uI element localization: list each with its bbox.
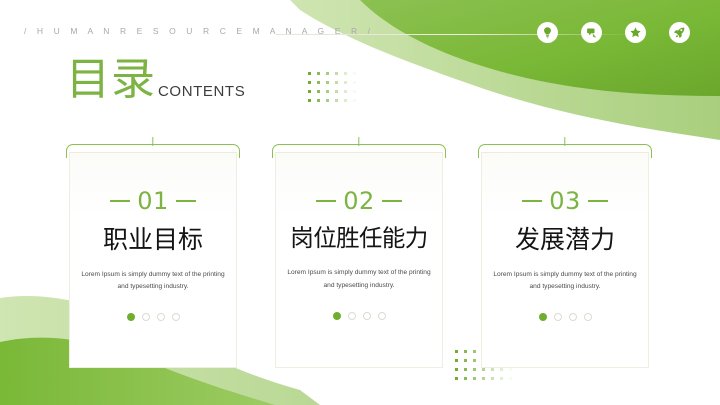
card-body[interactable]: 03 发展潜力 Lorem Ipsum is simply dummy text… [481,152,649,368]
pager-dot[interactable] [569,313,577,321]
card-body[interactable]: 01 职业目标 Lorem Ipsum is simply dummy text… [69,152,237,368]
decor-dot [326,99,329,102]
pager-dot[interactable] [584,313,592,321]
pager-dot[interactable] [348,312,356,320]
pager-dot[interactable] [333,312,341,320]
decor-dot [308,81,311,84]
card-number-row: 03 [482,189,648,213]
decor-dot [353,99,356,102]
card-title: 职业目标 [70,226,236,254]
decor-dot [326,72,329,75]
wave-top-dark [360,0,720,96]
decor-dot [455,368,458,371]
star-icon[interactable] [625,22,646,43]
card-body[interactable]: 02 岗位胜任能力 Lorem Ipsum is simply dummy te… [275,152,443,368]
decor-dot [326,81,329,84]
decor-dot [317,90,320,93]
pager-dot[interactable] [539,313,547,321]
contents-card[interactable]: 03 发展潜力 Lorem Ipsum is simply dummy text… [481,138,649,368]
decor-dot [482,368,485,371]
page-title: 目录 CONTENTS [66,58,245,102]
decor-dot [353,90,356,93]
slide-canvas: / H U M A N R E S O U R C E M A N A G E … [0,0,720,405]
card-number: 02 [343,189,375,213]
card-number: 03 [549,189,581,213]
contents-card-list: 01 职业目标 Lorem Ipsum is simply dummy text… [0,138,720,368]
pager-dot[interactable] [172,313,180,321]
page-title-en: CONTENTS [158,84,245,102]
card-number-row: 01 [70,189,236,213]
dash-left-icon [522,200,542,202]
card-bracket-tick [152,137,153,146]
card-pager[interactable] [70,313,236,321]
card-number: 01 [137,189,169,213]
decor-dot [344,81,347,84]
pager-dot[interactable] [378,312,386,320]
decor-dot [509,377,512,380]
hand-pointer-icon[interactable] [581,22,602,43]
card-description: Lorem Ipsum is simply dummy text of the … [284,267,434,293]
decor-dot [455,377,458,380]
decor-dot [326,90,329,93]
contents-card[interactable]: 02 岗位胜任能力 Lorem Ipsum is simply dummy te… [275,138,443,368]
card-pager[interactable] [482,313,648,321]
card-number-row: 02 [276,189,442,213]
decor-dot [500,377,503,380]
dash-right-icon [382,200,402,202]
lightbulb-icon[interactable] [537,22,558,43]
pager-dot[interactable] [363,312,371,320]
decor-dot [353,72,356,75]
contents-card[interactable]: 01 职业目标 Lorem Ipsum is simply dummy text… [69,138,237,368]
decor-dot [464,377,467,380]
pager-dot[interactable] [142,313,150,321]
dash-left-icon [110,200,130,202]
decor-dot [317,72,320,75]
card-bracket-tick [564,137,565,146]
decor-dot [491,368,494,371]
decor-dot [335,81,338,84]
dash-right-icon [588,200,608,202]
page-title-cn: 目录 [66,58,156,102]
decor-dot [308,90,311,93]
dot-grid-top [308,72,362,108]
pager-dot[interactable] [157,313,165,321]
decor-dot [344,72,347,75]
decor-dot [464,368,467,371]
decor-dot [317,99,320,102]
decor-dot [335,90,338,93]
decor-dot [473,368,476,371]
decor-dot [500,368,503,371]
decor-dot [317,81,320,84]
decor-dot [344,99,347,102]
decor-dot [308,72,311,75]
card-title: 发展潜力 [482,226,648,254]
decor-dot [491,377,494,380]
dash-left-icon [316,200,336,202]
decor-dot [335,99,338,102]
card-pager[interactable] [276,312,442,320]
dash-right-icon [176,200,196,202]
card-title: 岗位胜任能力 [276,226,442,252]
header-icon-row [537,22,690,43]
decor-dot [353,81,356,84]
pager-dot[interactable] [554,313,562,321]
card-bracket-tick [358,137,359,146]
decor-dot [482,377,485,380]
pager-dot[interactable] [127,313,135,321]
decor-dot [308,99,311,102]
card-description: Lorem Ipsum is simply dummy text of the … [490,269,640,295]
card-description: Lorem Ipsum is simply dummy text of the … [78,269,228,295]
decor-dot [335,72,338,75]
decor-dot [344,90,347,93]
wave-top-light [290,0,720,140]
rocket-icon[interactable] [669,22,690,43]
decor-dot [509,368,512,371]
decor-dot [473,377,476,380]
